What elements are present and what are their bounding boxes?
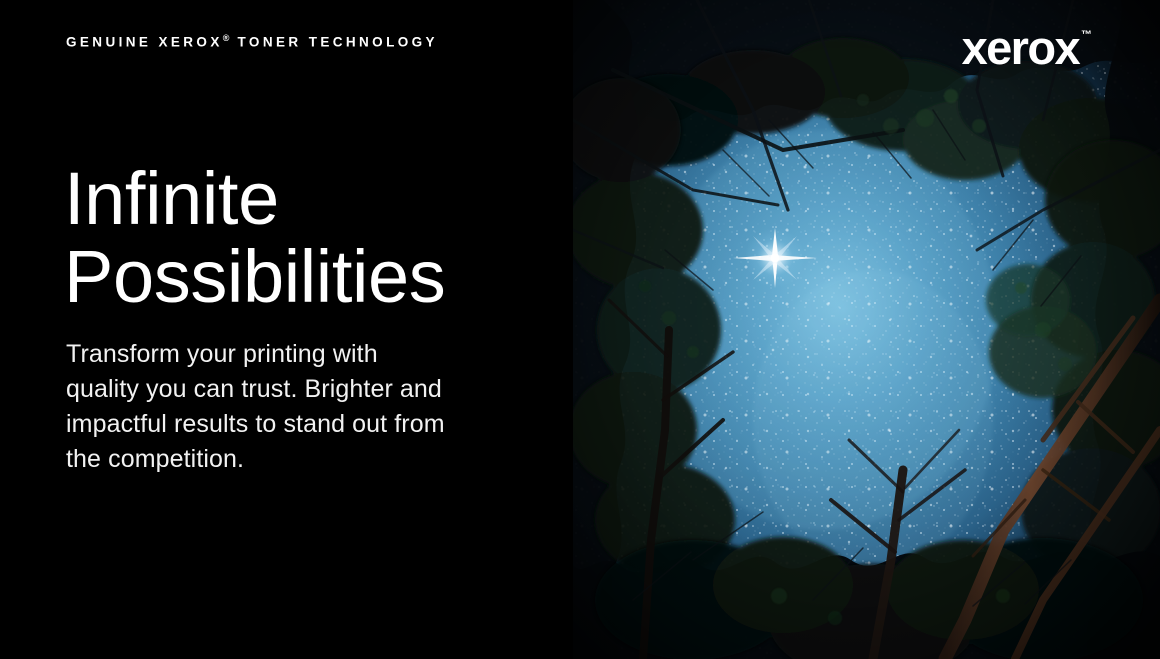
subcopy-paragraph: Transform your printing with quality you…: [66, 337, 506, 477]
eyebrow-text-before: GENUINE XEROX: [66, 35, 223, 50]
headline-line-1: Infinite: [64, 160, 445, 238]
trademark-icon: ™: [1081, 28, 1092, 42]
xerox-wordmark: xerox: [962, 24, 1079, 71]
registered-trademark-icon: ®: [223, 33, 231, 43]
photo-vignette: [573, 0, 1160, 659]
subcopy-line-1: Transform your printing with: [66, 337, 506, 372]
subcopy-line-2: quality you can trust. Brighter and: [66, 372, 506, 407]
eyebrow-kicker: GENUINE XEROX® TONER TECHNOLOGY: [66, 33, 438, 50]
left-text-panel: GENUINE XEROX® TONER TECHNOLOGY Infinite…: [0, 0, 573, 659]
xerox-promo-banner: GENUINE XEROX® TONER TECHNOLOGY Infinite…: [0, 0, 1160, 659]
eyebrow-text-after: TONER TECHNOLOGY: [238, 35, 438, 50]
starry-forest-illustration: [573, 0, 1160, 659]
subcopy-line-4: the competition.: [66, 442, 506, 477]
subcopy-line-3: impactful results to stand out from: [66, 407, 506, 442]
xerox-logo[interactable]: xerox ™: [962, 24, 1092, 71]
page-title: Infinite Possibilities: [64, 160, 445, 316]
night-sky-forest-photo: xerox ™: [573, 0, 1160, 659]
headline-line-2: Possibilities: [64, 238, 445, 316]
